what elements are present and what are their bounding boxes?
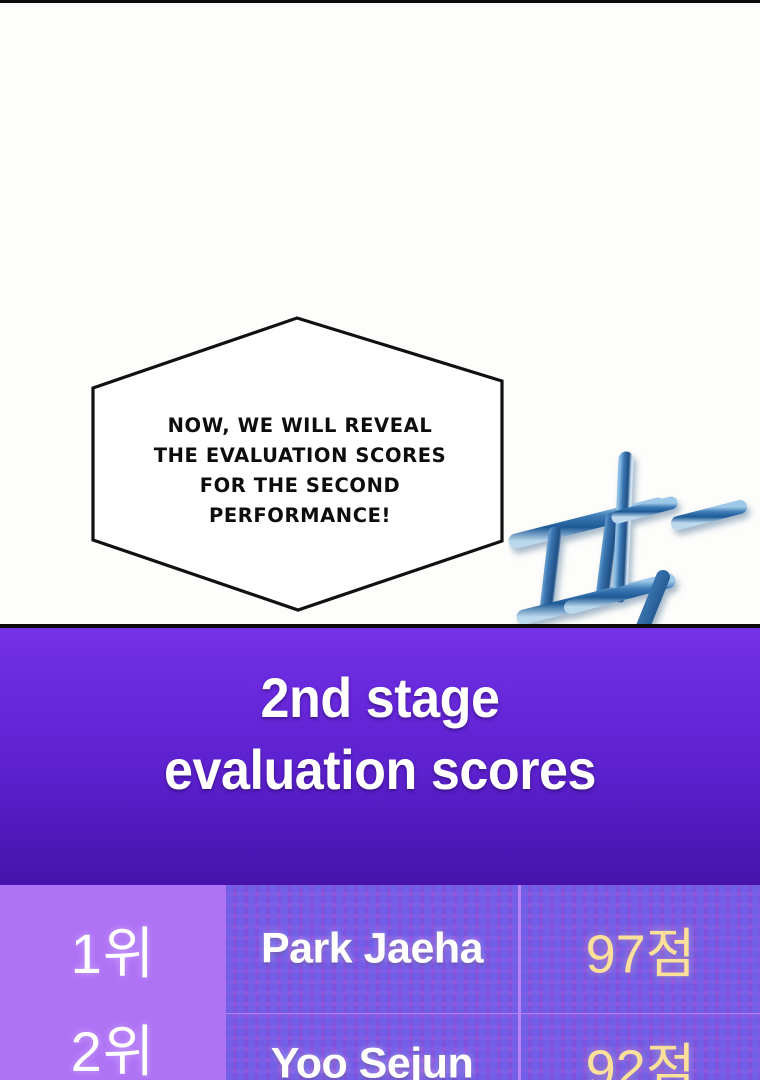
contestant-score: 92점 [521,1025,760,1080]
rank-cell: 1위 [0,885,226,1013]
name-cell: Yoo Sejun [226,1014,518,1080]
speech-bubble: NOW, WE WILL REVEAL THE EVALUATION SCORE… [88,311,508,616]
contestant-name: Yoo Sejun [226,1040,518,1080]
contestant-name: Park Jaeha [226,925,518,974]
name-cell: Park Jaeha [226,885,518,1013]
contestant-score: 97점 [521,910,760,989]
banner-title: 2nd stage evaluation scores [27,662,734,806]
score-cell: 92점 [521,1014,760,1080]
banner-top-rule [0,624,760,628]
table-row: 1위 Park Jaeha 97점 [0,885,760,1013]
comic-panel-white: NOW, WE WILL REVEAL THE EVALUATION SCORE… [0,3,760,624]
rank-cell: 2위 [0,1014,226,1080]
score-cell: 97점 [521,885,760,1013]
speech-bubble-text: NOW, WE WILL REVEAL THE EVALUATION SCORE… [130,411,470,531]
scoreboard-table: 1위 Park Jaeha 97점 2위 Yoo Sejun 92점 [0,885,760,1080]
webtoon-panel-page: NOW, WE WILL REVEAL THE EVALUATION SCORE… [0,0,760,1080]
results-banner: 2nd stage evaluation scores [0,624,760,885]
table-row: 2위 Yoo Sejun 92점 [0,1014,760,1080]
